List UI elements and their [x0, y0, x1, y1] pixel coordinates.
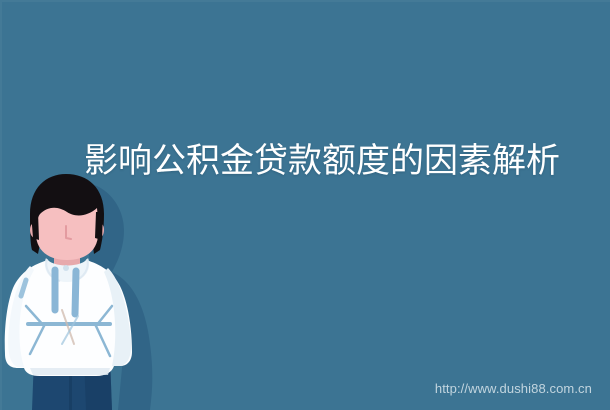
collar-button [63, 265, 69, 271]
cover-image-canvas: 影响公积金贷款额度的因素解析 http://www.dushi88.com.cn [0, 0, 610, 410]
drawstring-right [75, 271, 76, 314]
trousers-gap [69, 374, 72, 410]
hair-side-right [95, 212, 103, 240]
watermark-url: http://www.dushi88.com.cn [435, 381, 592, 397]
page-title: 影响公积金贷款额度的因素解析 [84, 141, 544, 181]
hoodie-hem-shadow [30, 368, 110, 375]
person-illustration [0, 168, 175, 410]
